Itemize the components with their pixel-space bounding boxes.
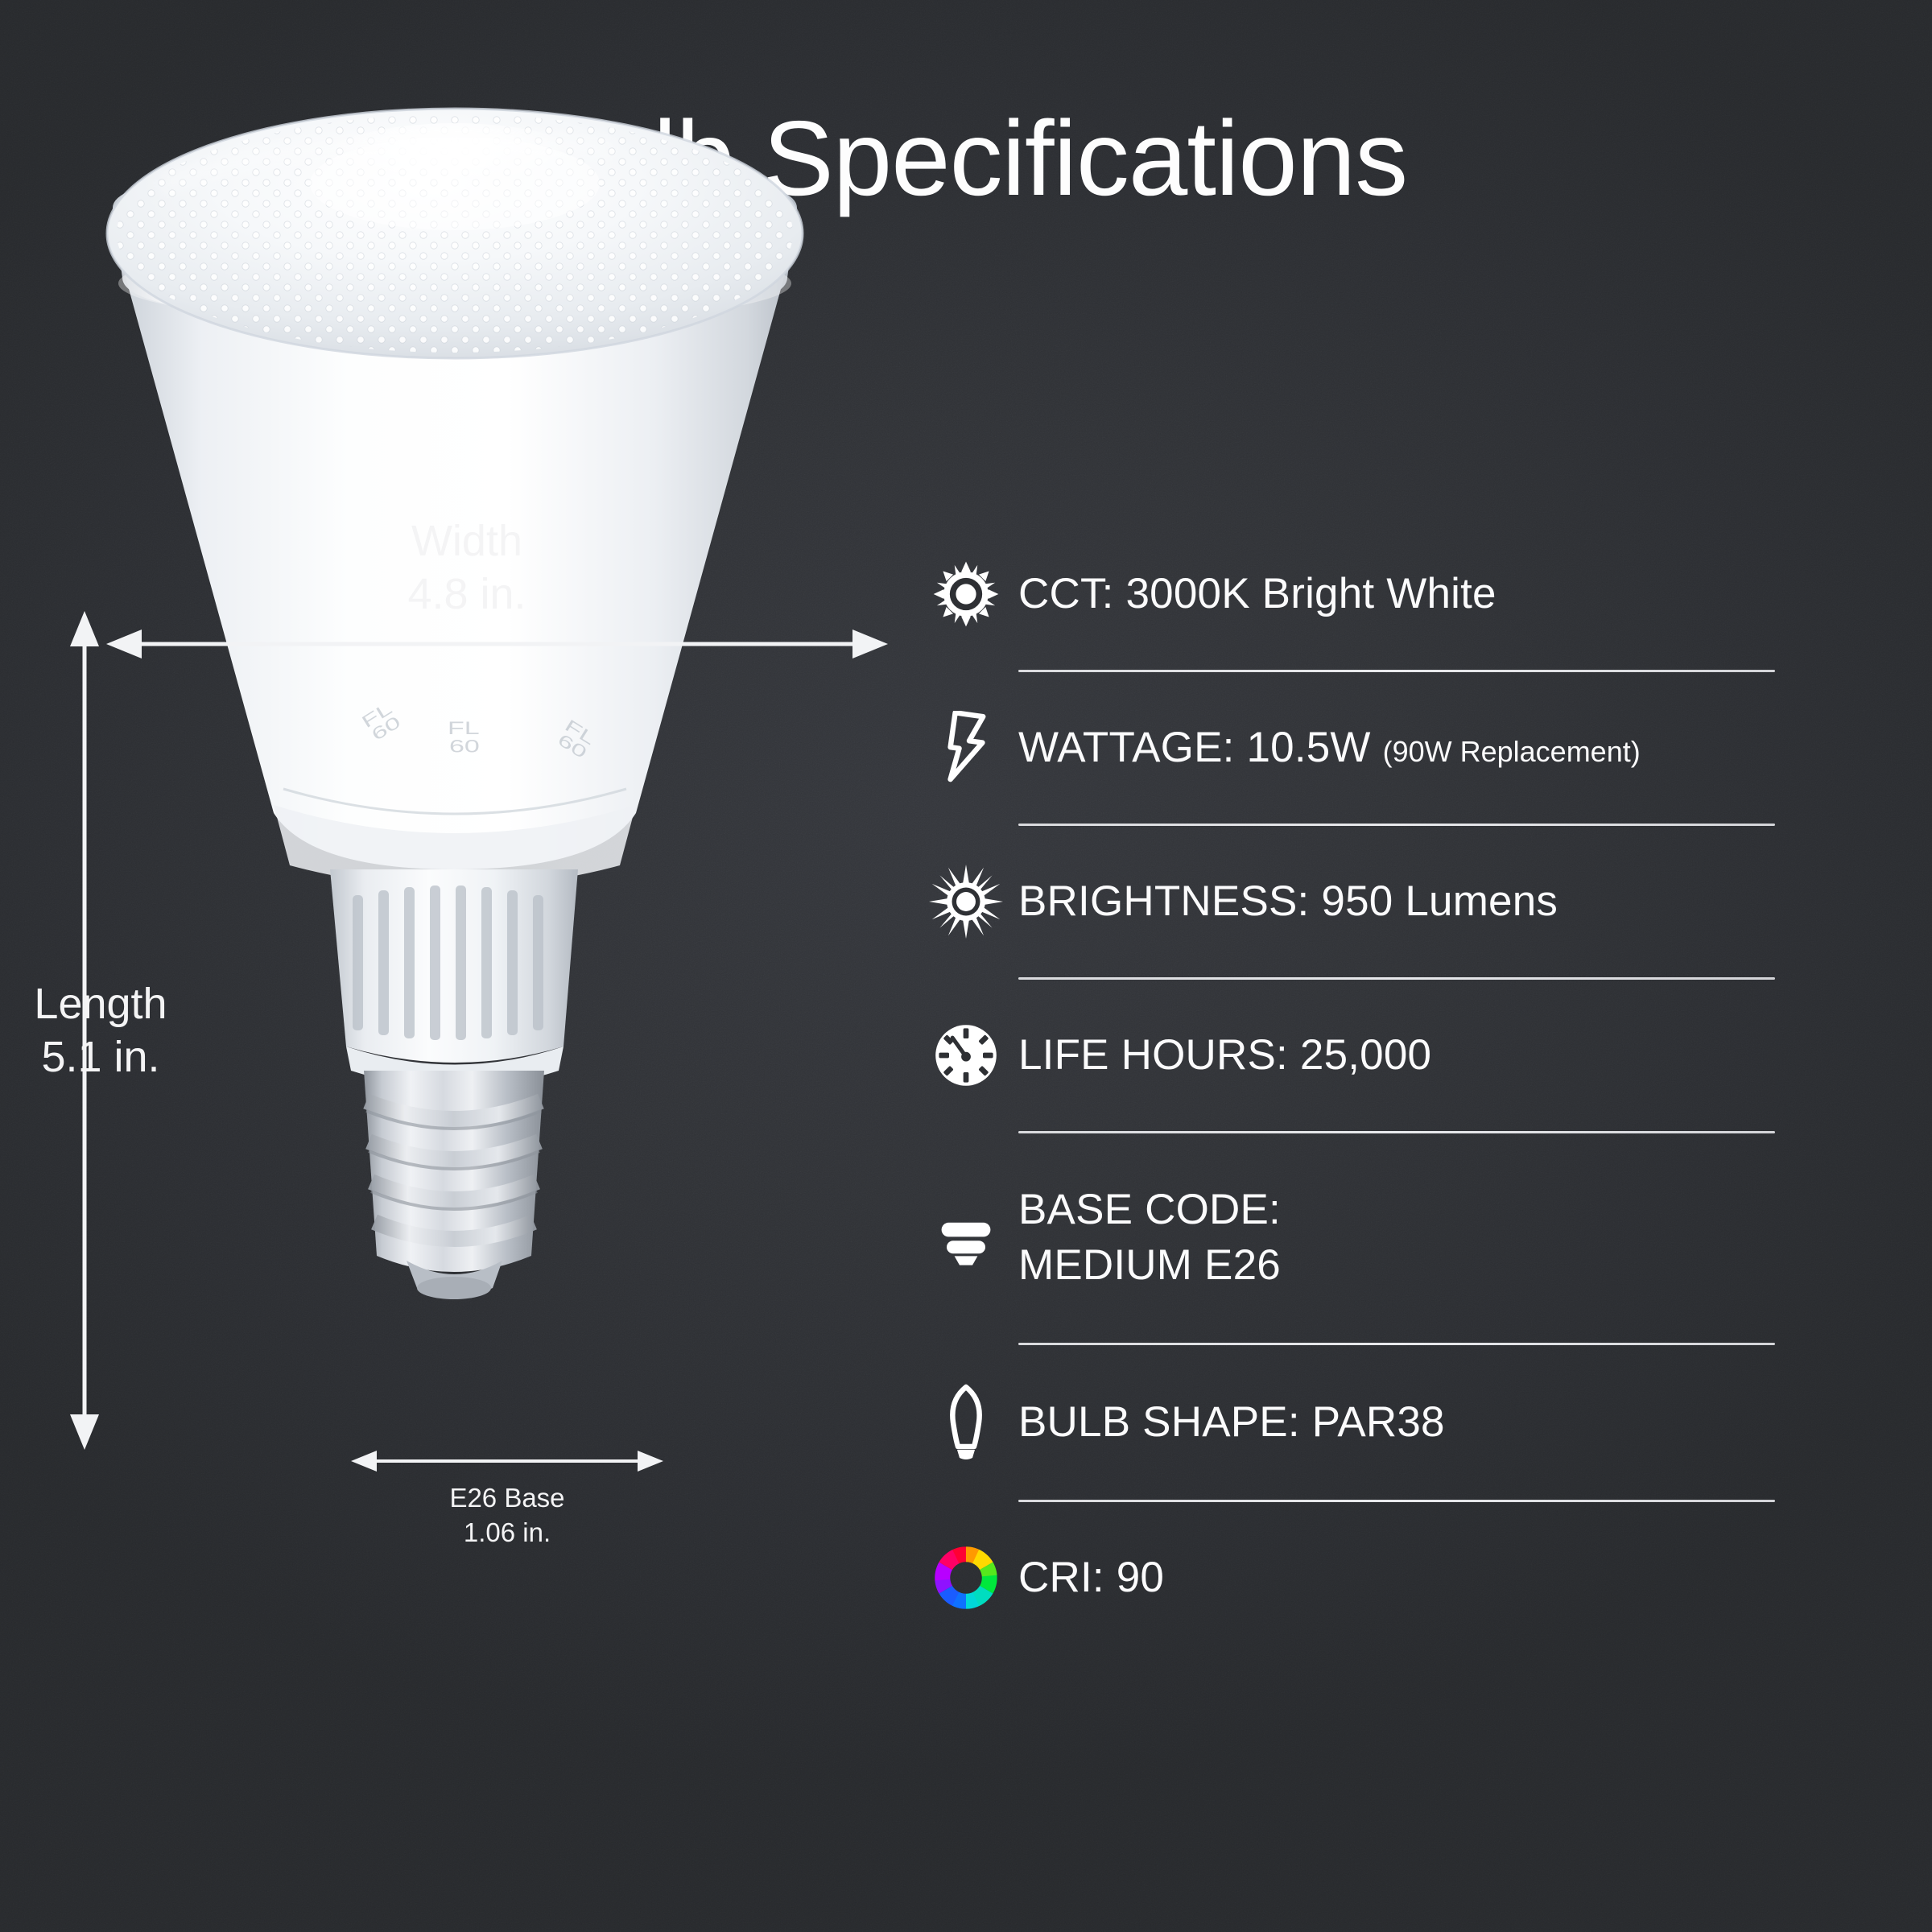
lightning-bolt-icon [914,711,1018,785]
width-label-text: Width [346,515,588,568]
spec-text-life-hours: LIFE HOURS: 25,000 [1018,1028,1431,1084]
svg-text:60: 60 [449,737,480,757]
spec-text-base-code: BASE CODE: MEDIUM E26 [1018,1183,1281,1294]
spec-text-wattage-sub: (90W Replacement) [1383,735,1641,768]
specifications-list: CCT: 3000K Bright White WATTAGE: 10.5W (… [914,555,1831,1616]
width-dimension-label: Width 4.8 in. [346,515,588,621]
spec-text-bulb-shape: BULB SHAPE: PAR38 [1018,1395,1445,1451]
base-label-value: 1.06 in. [386,1516,628,1550]
spec-text-brightness: BRIGHTNESS: 950 Lumens [1018,874,1558,930]
base-label-text: E26 Base [386,1481,628,1516]
length-dimension-label: Length 5.1 in. [0,978,209,1084]
spec-row-life-hours: LIFE HOURS: 25,000 [914,1017,1831,1094]
spec-text-wattage-main: WATTAGE: 10.5W [1018,724,1371,771]
base-arrow [338,1441,676,1481]
infographic-canvas: Bulb Specifications [0,0,1932,1932]
spec-text-cct: CCT: 3000K Bright White [1018,567,1496,622]
color-wheel-icon [914,1543,1018,1612]
svg-text:FL: FL [448,719,480,739]
length-label-text: Length [0,978,209,1031]
length-label-value: 5.1 in. [0,1031,209,1084]
spec-row-base-code: BASE CODE: MEDIUM E26 [914,1170,1831,1306]
sun-gear-icon [914,560,1018,628]
width-label-value: 4.8 in. [346,568,588,621]
spec-text-wattage: WATTAGE: 10.5W (90W Replacement) [1018,720,1641,776]
spec-text-base-code-line2: MEDIUM E26 [1018,1238,1281,1294]
spec-row-cri: CRI: 90 [914,1539,1831,1616]
brightness-sun-icon [914,865,1018,939]
product-illustration-panel: x FL 60 FL 60 FL 60 [0,0,910,1932]
spec-text-base-code-line1: BASE CODE: [1018,1183,1281,1238]
spec-row-wattage: WATTAGE: 10.5W (90W Replacement) [914,709,1831,786]
base-dimension-label: E26 Base 1.06 in. [386,1481,628,1550]
spec-row-bulb-shape: BULB SHAPE: PAR38 [914,1382,1831,1463]
bulb-outline-icon [914,1382,1018,1463]
spec-text-cri: CRI: 90 [1018,1550,1164,1606]
screw-base-icon [914,1206,1018,1270]
clock-icon [914,1022,1018,1089]
spec-row-cct: CCT: 3000K Bright White [914,555,1831,633]
spec-row-brightness: BRIGHTNESS: 950 Lumens [914,863,1831,940]
